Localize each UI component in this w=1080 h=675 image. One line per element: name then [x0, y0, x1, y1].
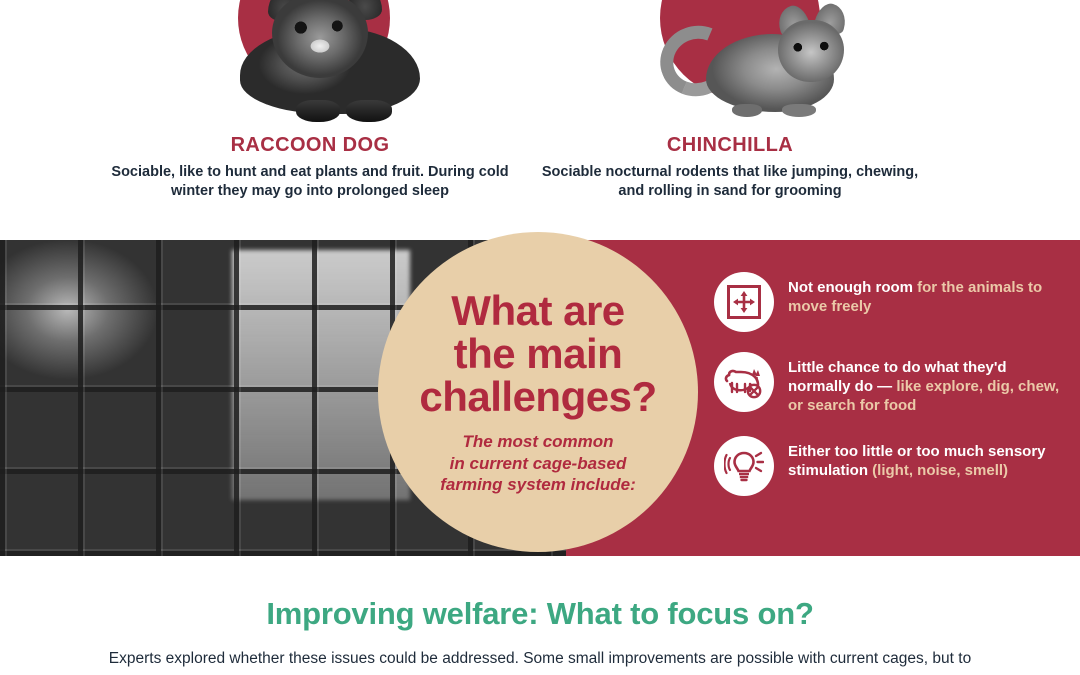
- challenges-circle-title: What are the main challenges?: [419, 289, 656, 419]
- raccoon-dog-paw-left: [296, 100, 340, 122]
- challenge-rest-text: (light, noise, smell): [868, 462, 1008, 479]
- improving-welfare-heading: Improving welfare: What to focus on?: [0, 596, 1080, 632]
- challenge-text: Not enough room for the animals to move …: [788, 272, 1066, 317]
- challenges-list: Not enough room for the animals to move …: [714, 272, 1066, 516]
- species-section: RACCOON DOG Sociable, like to hunt and e…: [0, 0, 1080, 240]
- chinchilla-foot-front: [732, 104, 762, 117]
- improving-welfare-body: Experts explored whether these issues co…: [0, 648, 1080, 670]
- challenge-text: Little chance to do what they'd normally…: [788, 352, 1066, 416]
- challenges-circle-callout: What are the main challenges? The most c…: [378, 232, 698, 552]
- improving-welfare-section: Improving welfare: What to focus on? Exp…: [0, 556, 1080, 675]
- expand-arrows-in-box-icon: [714, 272, 774, 332]
- challenge-item: Not enough room for the animals to move …: [714, 272, 1066, 332]
- chinchilla-photo: [510, 0, 950, 128]
- raccoon-dog-photo: [90, 0, 530, 128]
- challenge-item: Either too little or too much sensory st…: [714, 436, 1066, 496]
- lightbulb-sensory-icon: [714, 436, 774, 496]
- species-description-raccoon-dog: Sociable, like to hunt and eat plants an…: [90, 163, 530, 201]
- challenges-circle-subtitle: The most common in current cage-based fa…: [440, 431, 636, 495]
- species-card-chinchilla: CHINCHILLA Sociable nocturnal rodents th…: [510, 0, 950, 238]
- challenge-text: Either too little or too much sensory st…: [788, 436, 1066, 481]
- species-description-chinchilla: Sociable nocturnal rodents that like jum…: [510, 163, 950, 201]
- challenge-lead-text: Not enough room: [788, 279, 913, 296]
- species-name-chinchilla: CHINCHILLA: [510, 134, 950, 157]
- challenge-item: Little chance to do what they'd normally…: [714, 352, 1066, 416]
- infographic-page: RACCOON DOG Sociable, like to hunt and e…: [0, 0, 1080, 675]
- chinchilla-head-shape: [778, 20, 844, 82]
- chinchilla-foot-rear: [782, 104, 816, 117]
- species-name-raccoon-dog: RACCOON DOG: [90, 134, 530, 157]
- raccoon-dog-paw-right: [346, 100, 392, 122]
- animal-crossed-out-icon: [714, 352, 774, 412]
- species-card-raccoon-dog: RACCOON DOG Sociable, like to hunt and e…: [90, 0, 530, 238]
